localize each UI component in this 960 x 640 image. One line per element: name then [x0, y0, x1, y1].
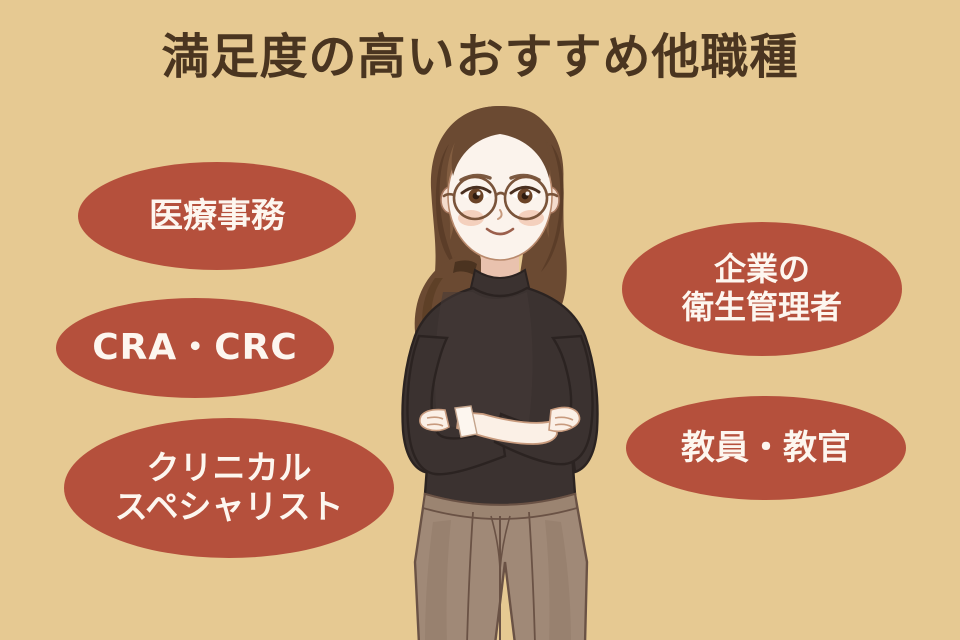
job-bubble-teacher-instructor[interactable]: 教員・教官: [626, 396, 906, 500]
sweater-shading: [435, 292, 533, 430]
poster-canvas: 満足度の高いおすすめ他職種: [0, 0, 960, 640]
job-bubble-medical-clerk[interactable]: 医療事務: [78, 162, 356, 270]
job-bubble-corporate-health-manager[interactable]: 企業の 衛生管理者: [622, 222, 902, 356]
job-bubble-clinical-specialist[interactable]: クリニカル スペシャリスト: [64, 418, 394, 558]
page-title: 満足度の高いおすすめ他職種: [0, 26, 960, 88]
hand-left: [420, 410, 449, 431]
woman-illustration: [355, 92, 645, 640]
job-bubble-cra-crc[interactable]: CRA・CRC: [56, 298, 334, 398]
